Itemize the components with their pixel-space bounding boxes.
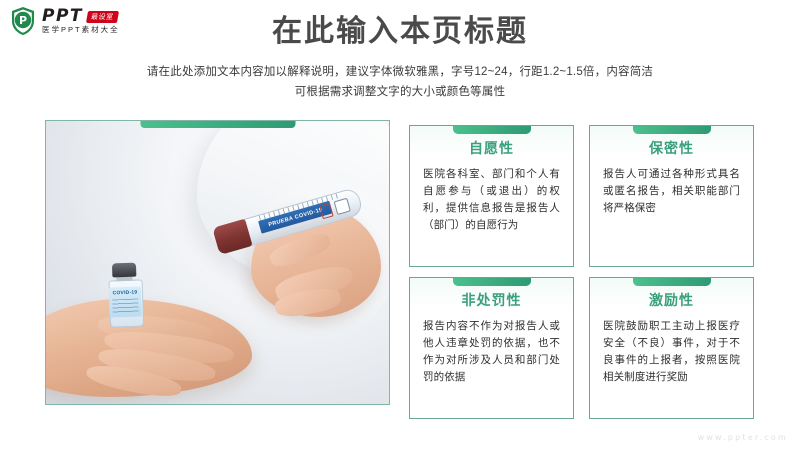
page-subtitle-line-1: 请在此处添加文本内容加以解释说明，建议字体微软雅黑，字号12~24，行距1.2~… — [0, 62, 800, 82]
info-card-confidentiality[interactable]: 保密性 报告人可通过各种形式具名或匿名报告，相关职能部门将严格保密 — [589, 125, 754, 267]
card-tab-accent — [453, 278, 531, 286]
site-watermark: www.ppter.com — [698, 433, 788, 442]
card-body: 医院各科室、部门和个人有自愿参与（或退出）的权利，提供信息报告是报告人（部门）的… — [423, 166, 560, 234]
card-title: 自愿性 — [410, 140, 573, 157]
photo-accent-bar — [140, 121, 295, 128]
vaccine-vial-label-text: COVID-19 — [108, 289, 142, 296]
vaccine-vial-cap — [112, 263, 136, 278]
card-body: 报告人可通过各种形式具名或匿名报告，相关职能部门将严格保密 — [603, 166, 740, 217]
info-card-incentive[interactable]: 激励性 医院鼓励职工主动上报医疗安全（不良）事件，对于不良事件的上报者，按照医院… — [589, 277, 754, 419]
slide-root: P PPT 最设室 医学PPT素材大全 在此输入本页标题 请在此处添加文本内容加… — [0, 0, 800, 450]
card-title: 保密性 — [590, 140, 753, 157]
photo-panel: PRUEBA COVID-19 COVID-19 — [45, 120, 390, 405]
info-card-voluntary[interactable]: 自愿性 医院各科室、部门和个人有自愿参与（或退出）的权利，提供信息报告是报告人（… — [409, 125, 574, 267]
photo-image: PRUEBA COVID-19 COVID-19 — [46, 121, 389, 404]
card-title: 激励性 — [590, 292, 753, 309]
page-subtitle: 请在此处添加文本内容加以解释说明，建议字体微软雅黑，字号12~24，行距1.2~… — [0, 62, 800, 102]
card-body: 医院鼓励职工主动上报医疗安全（不良）事件，对于不良事件的上报者，按照医院相关制度… — [603, 318, 740, 386]
card-body: 报告内容不作为对报告人或他人违章处罚的依据，也不作为对所涉及人员和部门处罚的依据 — [423, 318, 560, 386]
page-title: 在此输入本页标题 — [0, 14, 800, 50]
info-card-non-punitive[interactable]: 非处罚性 报告内容不作为对报告人或他人违章处罚的依据，也不作为对所涉及人员和部门… — [409, 277, 574, 419]
card-tab-accent — [633, 278, 711, 286]
page-subtitle-line-2: 可根据需求调整文字的大小或颜色等属性 — [0, 82, 800, 102]
card-tab-accent — [633, 126, 711, 134]
vaccine-vial-label-lines — [112, 299, 138, 314]
card-tab-accent — [453, 126, 531, 134]
card-title: 非处罚性 — [410, 292, 573, 309]
vaccine-vial: COVID-19 — [107, 262, 143, 325]
